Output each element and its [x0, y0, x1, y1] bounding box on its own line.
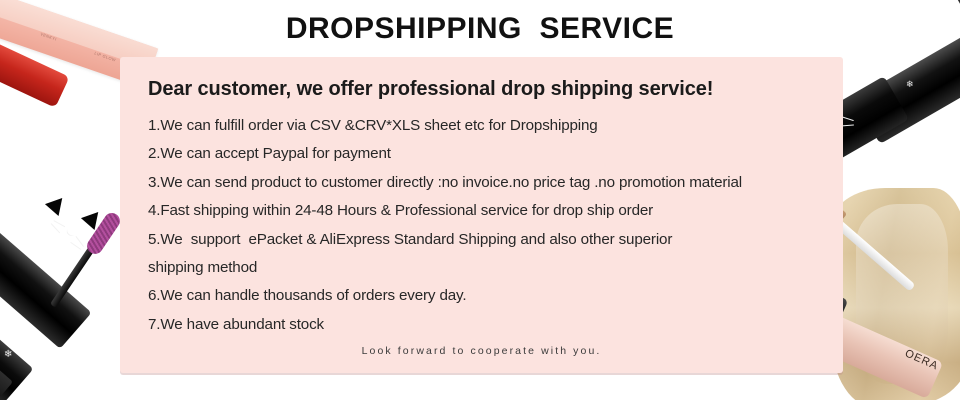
- list-item: 4.Fast shipping within 24-48 Hours & Pro…: [148, 197, 833, 225]
- list-item: 1.We can fulfill order via CSV &CRV*XLS …: [148, 112, 833, 140]
- flower-decor-icon: ❄: [4, 350, 14, 360]
- flower-decor-icon: ❄: [30, 376, 40, 386]
- list-item: 7.We have abundant stock: [148, 311, 833, 339]
- list-item: 6.We can handle thousands of orders ever…: [148, 282, 833, 310]
- list-item: 3.We can send product to customer direct…: [148, 169, 833, 197]
- mascara-cap-top: [955, 0, 960, 24]
- promo-banner: VENKYI LIP GLOW VENKYI ❄ ❄ ❄: [0, 0, 960, 400]
- flower-decor-icon: ❄: [906, 80, 914, 91]
- flower-decor-icon: ❄: [888, 50, 897, 61]
- list-item: 2.We can accept Paypal for payment: [148, 140, 833, 168]
- panel-footer-text: Look forward to cooperate with you.: [120, 345, 843, 357]
- flower-decor-icon: ❄: [920, 30, 933, 41]
- list-item-continuation: shipping method: [148, 254, 833, 282]
- flower-decor-icon: ❄: [0, 382, 4, 392]
- panel-bullet-list: 1.We can fulfill order via CSV &CRV*XLS …: [148, 112, 833, 339]
- cat-mascara-purple-wand-image: ❄ ❄ ❄: [0, 186, 140, 400]
- panel-heading: Dear customer, we offer professional dro…: [148, 78, 713, 101]
- dropshipping-info-panel: Dear customer, we offer professional dro…: [120, 57, 843, 373]
- list-item: 5.We support ePacket & AliExpress Standa…: [148, 226, 833, 254]
